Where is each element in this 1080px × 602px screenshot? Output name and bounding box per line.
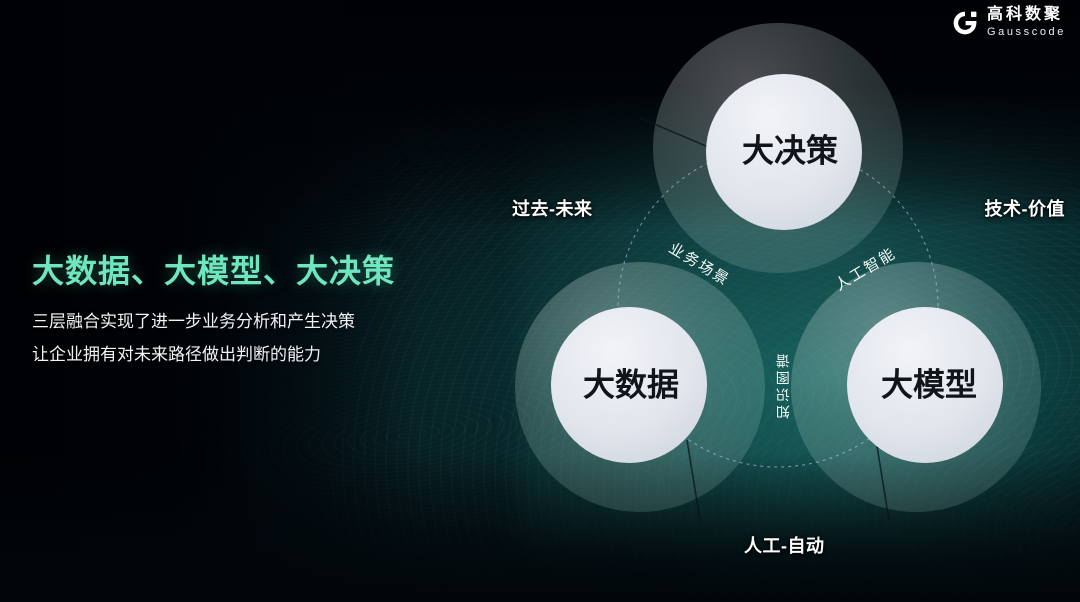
brand-name-en: Gausscode — [987, 27, 1066, 38]
axis-label-right: 技术-价值 — [985, 195, 1066, 221]
page-title: 大数据、大模型、大决策 — [32, 252, 472, 290]
brand-name-cn: 高科数聚 — [987, 7, 1066, 23]
slide-root: 大决策 大数据 大模型 业务场景 人工智能 知识图谱 大数据、大模型、大决策 三… — [0, 0, 1080, 602]
brand-logo-text: 高科数聚 Gausscode — [987, 7, 1066, 38]
gausscode-ring-icon — [952, 10, 978, 36]
axis-label-left: 过去-未来 — [512, 195, 593, 221]
intersection-label-knowledge-graph: 知识图谱 — [775, 351, 791, 420]
subtitle-line-1: 三层融合实现了进一步业务分析和产生决策 — [32, 306, 472, 338]
inner-label-bigdata: 大数据 — [583, 366, 679, 402]
inner-label-bigmodel: 大模型 — [881, 366, 977, 402]
copy-block: 大数据、大模型、大决策 三层融合实现了进一步业务分析和产生决策 让企业拥有对未来… — [32, 252, 472, 371]
axis-label-bottom: 人工-自动 — [744, 532, 825, 558]
subtitle-line-2: 让企业拥有对未来路径做出判断的能力 — [32, 339, 472, 371]
brand-logo[interactable]: 高科数聚 Gausscode — [952, 7, 1066, 38]
inner-label-decision: 大决策 — [742, 132, 838, 168]
